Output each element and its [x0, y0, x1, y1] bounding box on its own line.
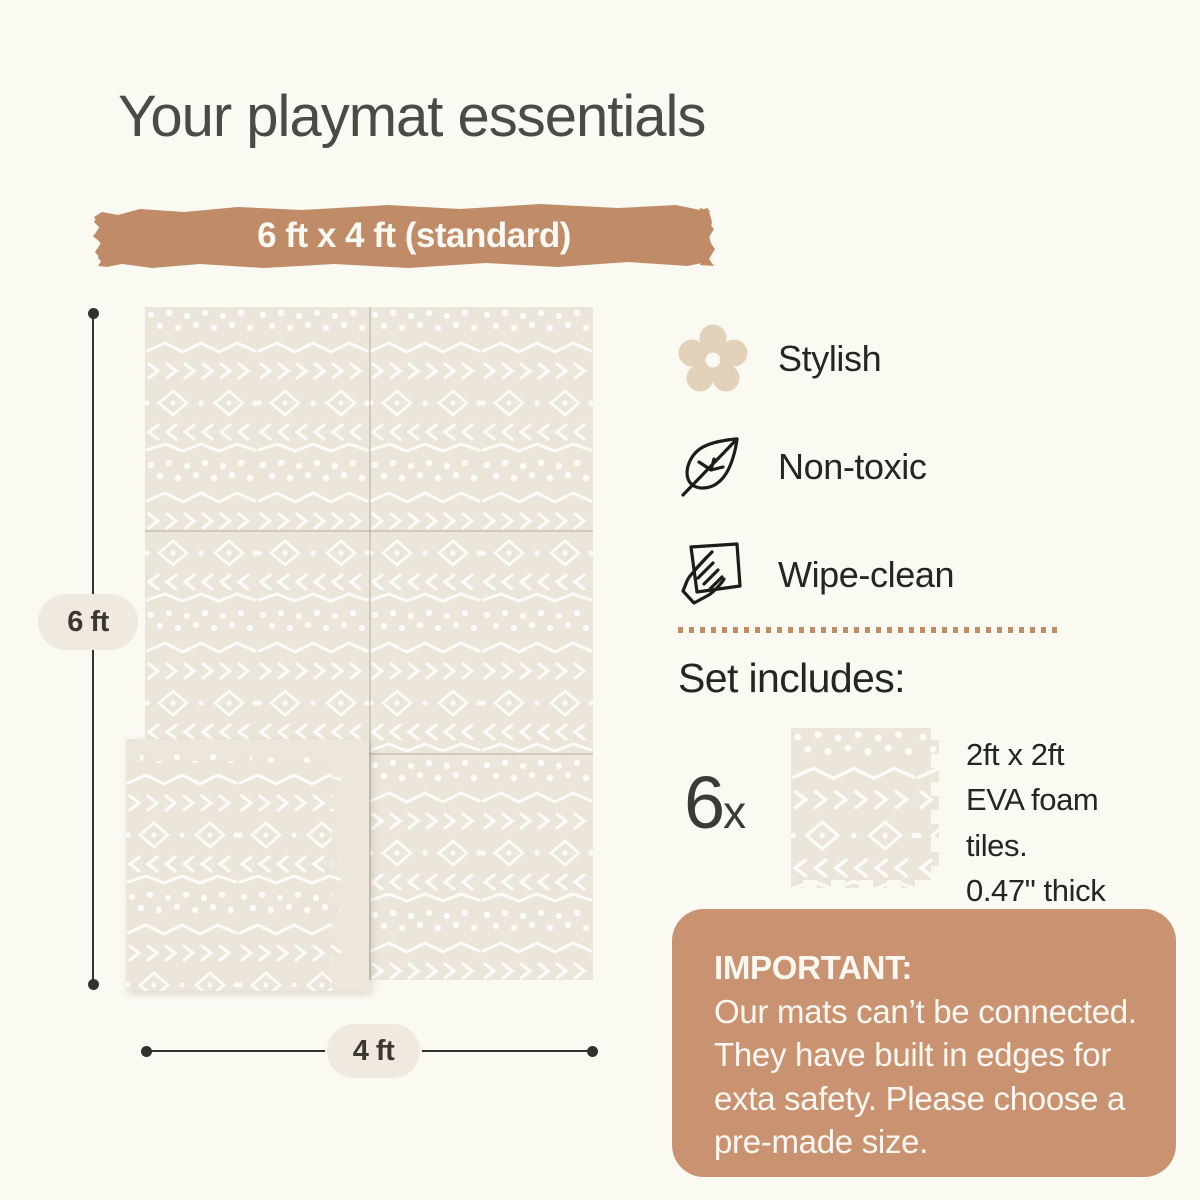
- quantity-label: 6x: [684, 766, 746, 840]
- set-line: tiles.: [966, 823, 1181, 868]
- important-notice: IMPORTANT: Our mats can’t be connected. …: [672, 909, 1176, 1177]
- dimension-endpoint-dot: [141, 1046, 152, 1057]
- wipe-cloth-icon: [676, 538, 750, 612]
- mat-diagram: 6 ft 4 ft: [0, 0, 660, 1100]
- dimension-endpoint-dot: [88, 308, 99, 319]
- important-heading: IMPORTANT:: [714, 946, 1176, 990]
- set-line: EVA foam: [966, 777, 1181, 822]
- quantity-suffix: x: [723, 786, 746, 838]
- dotted-divider: [678, 627, 1063, 633]
- feature-wipe-clean: Wipe-clean: [676, 538, 954, 612]
- dimension-endpoint-dot: [587, 1046, 598, 1057]
- set-includes-heading: Set includes:: [678, 655, 905, 702]
- detached-tile-pattern: [126, 739, 369, 991]
- height-label: 6 ft: [38, 594, 138, 650]
- set-line: 0.47" thick: [966, 868, 1181, 913]
- detached-tile: [126, 739, 369, 991]
- width-label: 4 ft: [327, 1024, 420, 1078]
- feature-label: Stylish: [778, 338, 881, 380]
- feature-non-toxic: Non-toxic: [676, 430, 926, 504]
- width-dimension-line: [422, 1050, 594, 1052]
- leaf-icon: [676, 430, 750, 504]
- quantity-number: 6: [684, 761, 723, 844]
- feature-label: Wipe-clean: [778, 554, 954, 596]
- dimension-endpoint-dot: [88, 979, 99, 990]
- feature-label: Non-toxic: [778, 446, 926, 488]
- sample-tile-image: [791, 728, 947, 896]
- sample-tile-pattern: [791, 728, 947, 896]
- flower-icon: [676, 322, 750, 396]
- feature-stylish: Stylish: [676, 322, 881, 396]
- mat-seam-vertical: [369, 307, 371, 980]
- set-includes-description: 2ft x 2ft EVA foam tiles. 0.47" thick: [966, 732, 1181, 913]
- width-dimension-line: [145, 1050, 325, 1052]
- set-line: 2ft x 2ft: [966, 732, 1181, 777]
- important-body: Our mats can’t be connected. They have b…: [714, 990, 1176, 1164]
- infographic-canvas: Your playmat essentials 6 ft x 4 ft (sta…: [0, 0, 1200, 1200]
